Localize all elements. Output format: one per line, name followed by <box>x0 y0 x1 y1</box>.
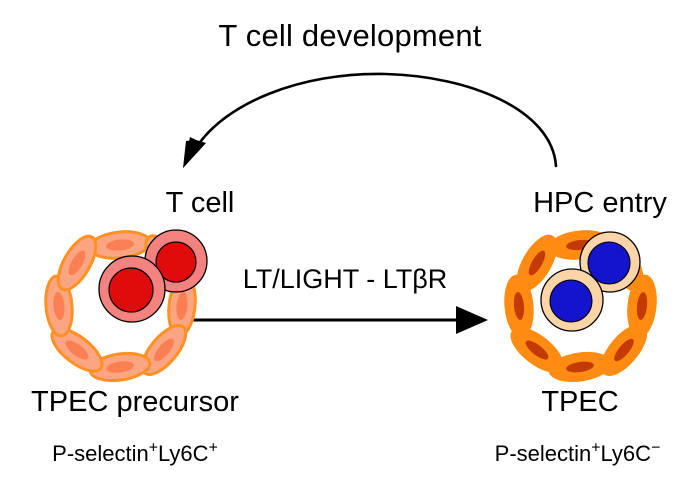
label-signaling-pathway: LT/LIGHT - LTβR <box>200 266 490 293</box>
label-tpec-precursor-markers: P-selectin+Ly6C+ <box>0 443 270 465</box>
diagram-title: T cell development <box>0 20 700 51</box>
marker-ly6c: Ly6C <box>158 441 209 466</box>
marker-ly6c: Ly6C <box>601 441 652 466</box>
marker-ly6c-sign: + <box>209 440 218 457</box>
hpc-cell-inner <box>541 269 603 331</box>
diagram-canvas: T cell development T cell HPC entry LT/L… <box>0 0 700 492</box>
label-tpec: TPEC <box>470 388 690 417</box>
marker-p-selectin-sign: + <box>149 440 158 457</box>
marker-p-selectin: P-selectin <box>495 441 592 466</box>
label-tpec-precursor: TPEC precursor <box>0 388 270 417</box>
marker-ly6c-sign: − <box>651 440 660 457</box>
label-tpec-markers: P-selectin+Ly6C− <box>455 443 700 465</box>
marker-p-selectin-sign: + <box>591 440 600 457</box>
label-t-cell: T cell <box>120 189 280 218</box>
marker-p-selectin: P-selectin <box>52 441 149 466</box>
label-hpc-entry: HPC entry <box>500 189 700 218</box>
tpec-structure <box>0 0 700 492</box>
